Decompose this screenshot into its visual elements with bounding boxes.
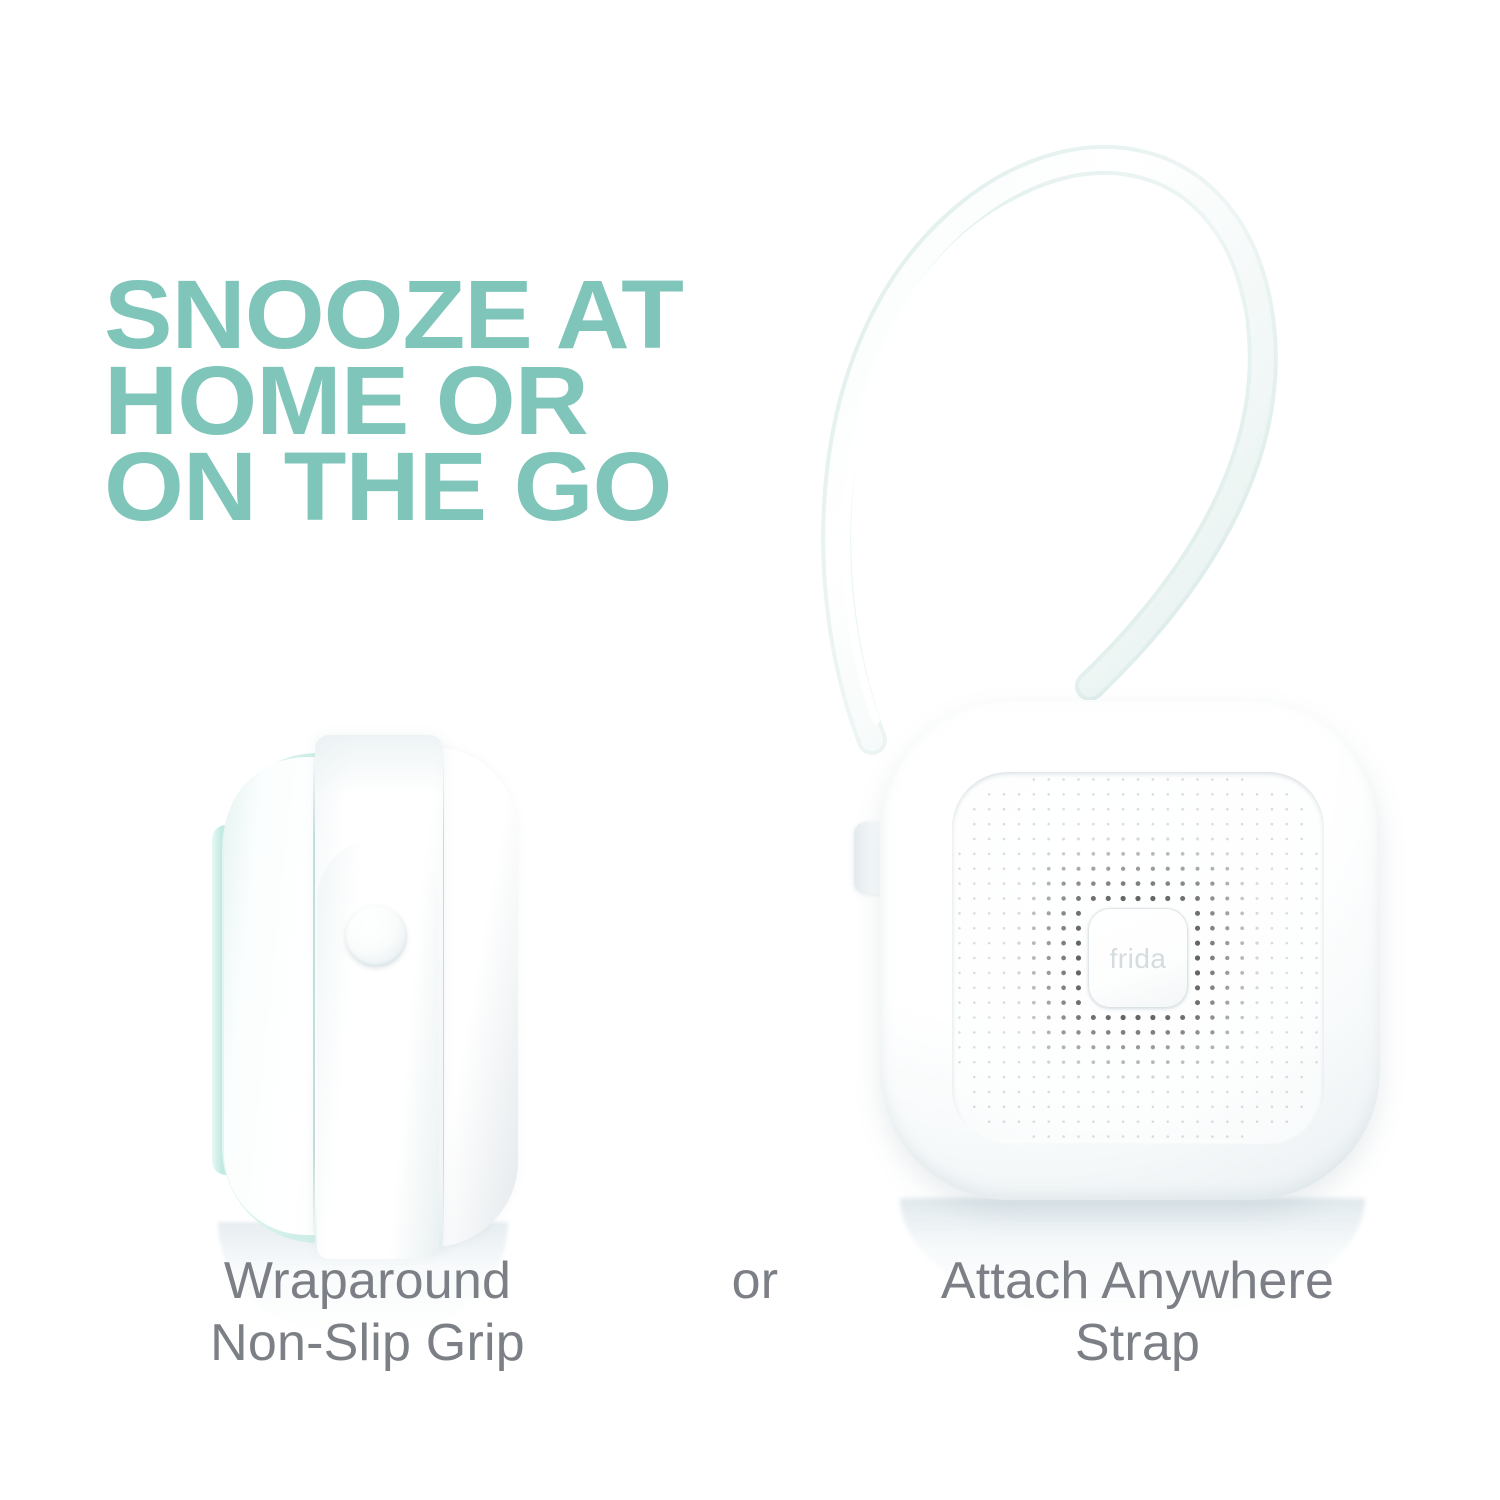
headline-line-3: ON THE GO — [104, 444, 804, 530]
brand-label: frida — [1110, 945, 1167, 973]
band-top-shading — [315, 735, 443, 795]
brand-badge: frida — [1088, 908, 1188, 1008]
device-shell: frida — [880, 700, 1380, 1200]
product-image-attach-anywhere: frida — [872, 690, 1388, 1210]
attach-anywhere-strap-loop — [760, 120, 1380, 760]
product-marketing-image: SNOOZE AT HOME OR ON THE GO — [0, 0, 1500, 1500]
caption-divider-or: or — [655, 1250, 855, 1312]
caption-wraparound-grip: Wraparound Non-Slip Grip — [130, 1250, 605, 1374]
speaker-grille-panel: frida — [952, 772, 1324, 1144]
caption-left-line-2: Non-Slip Grip — [130, 1312, 605, 1374]
page-title: SNOOZE AT HOME OR ON THE GO — [104, 272, 804, 530]
caption-attach-anywhere: Attach Anywhere Strap — [885, 1250, 1390, 1374]
product-image-wraparound-grip — [200, 735, 520, 1255]
power-button[interactable] — [345, 905, 407, 967]
caption-right-line-2: Strap — [885, 1312, 1390, 1374]
caption-left-line-1: Wraparound — [130, 1250, 605, 1312]
button-housing-bulge — [317, 839, 439, 1259]
caption-right-line-1: Attach Anywhere — [885, 1250, 1390, 1312]
